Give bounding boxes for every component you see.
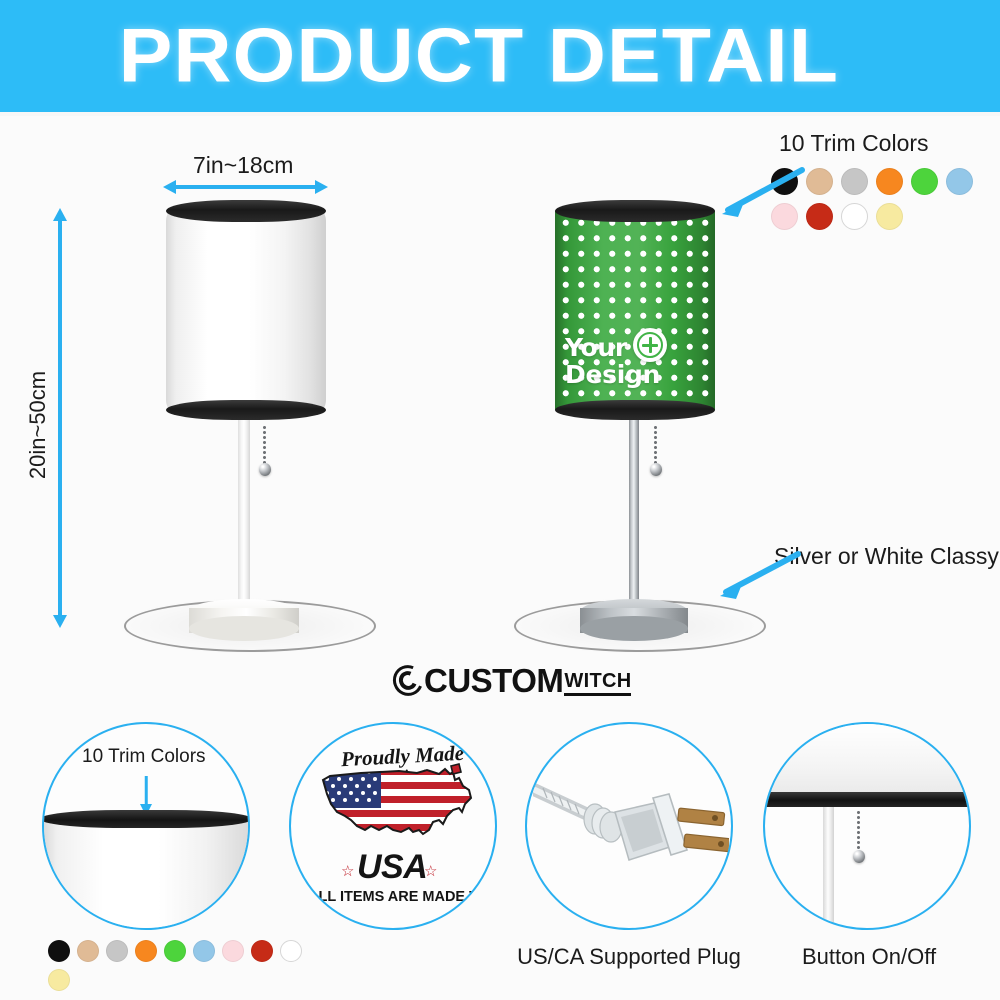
lamp-shade-trim-closeup [42, 810, 250, 930]
chain-ball [853, 850, 865, 863]
trim-swatch-gray[interactable] [841, 168, 868, 195]
trim-swatch-tan[interactable] [77, 940, 99, 962]
trim-swatch-yellow[interactable] [876, 203, 903, 230]
arrow-head-right [315, 180, 328, 194]
plus-icon [633, 328, 667, 362]
trim-swatch-red[interactable] [806, 203, 833, 230]
trim-swatch-orange[interactable] [135, 940, 157, 962]
lamp-pole [238, 420, 250, 610]
trim-swatch-green[interactable] [911, 168, 938, 195]
shade-trim-top [166, 200, 326, 222]
width-dimension-arrow [163, 180, 328, 194]
caption-switch: Button On/Off [740, 944, 998, 970]
shade-white-fabric [166, 211, 326, 410]
chain-beads [654, 425, 657, 465]
shade-trim-bottom [166, 400, 326, 420]
shade-trim [763, 792, 971, 807]
usa-flag-map-icon [313, 760, 481, 858]
chain-beads [857, 810, 860, 852]
arrow-shaft [58, 216, 62, 620]
height-dimension-label: 20in~50cm [25, 360, 51, 490]
lamp-pole [629, 420, 639, 610]
trim-swatch-black[interactable] [48, 940, 70, 962]
base-bottom [189, 616, 299, 641]
shade-surface [42, 820, 250, 930]
shade-surface [166, 211, 326, 410]
feature-circle-trim-colors: 10 Trim Colors [42, 722, 250, 930]
trim-swatch-light-blue[interactable] [946, 168, 973, 195]
chain-beads [263, 425, 266, 465]
shade-surface: Your Design [555, 211, 715, 410]
arrow-head-bottom [53, 615, 67, 628]
page-title: PRODUCT DETAIL [0, 13, 1000, 100]
trim-swatch-red[interactable] [251, 940, 273, 962]
brand-name-sub: WITCH [564, 671, 631, 691]
lamp-pole [823, 807, 834, 930]
brand-logo: CUSTOM WITCH [393, 665, 631, 696]
trim-swatch-tan[interactable] [806, 168, 833, 195]
shade-trim-top [555, 200, 715, 222]
header-banner: PRODUCT DETAIL [0, 0, 1000, 112]
header-divider [0, 112, 1000, 116]
caption-plug: US/CA Supported Plug [500, 944, 758, 970]
lamp-shade-white [166, 200, 326, 420]
chain-ball [650, 463, 662, 476]
trim-swatch-light-blue[interactable] [193, 940, 215, 962]
shade-trim-bottom [555, 400, 715, 420]
usa-star-left: ☆ [341, 862, 354, 880]
base-finish-label: Silver or White Classy [774, 543, 999, 570]
circle-c-logo-icon [393, 665, 423, 696]
product-detail-infographic: PRODUCT DETAIL 7in~18cm 20in~50cm [0, 0, 1000, 1000]
brand-name-main: CUSTOM [424, 665, 563, 696]
base-bottom [580, 616, 688, 641]
design-text-line2: Design [565, 361, 660, 388]
arrow-shaft [145, 776, 148, 805]
trim-colors-swatch-row-bottom[interactable] [48, 940, 308, 991]
trim-swatch-green[interactable] [164, 940, 186, 962]
arrow-shaft [171, 185, 320, 189]
lamp-base [189, 599, 299, 641]
trim-swatch-pink[interactable] [222, 940, 244, 962]
lamp-shade-custom-design: Your Design [555, 200, 715, 420]
feature-circle-plug: US/CA Supported Plug [525, 722, 733, 930]
brand-underline [564, 693, 631, 696]
chain-ball [259, 463, 271, 476]
trim-swatch-white[interactable] [841, 203, 868, 230]
trim-colors-top-label: 10 Trim Colors [779, 130, 929, 157]
power-plug-icon [533, 772, 729, 892]
shade-trim [42, 810, 250, 828]
shade-bottom-surface [763, 724, 971, 796]
brand-name-sub-wrap: WITCH [564, 671, 631, 696]
usa-badge-word: USA [357, 848, 427, 887]
trim-swatch-gray[interactable] [106, 940, 128, 962]
usa-badge-subtitle: ALL ITEMS ARE MADE TO ORDER! [308, 889, 497, 905]
feature-circle-made-in-usa: Proudly Made in the [289, 722, 497, 930]
trim-swatch-yellow[interactable] [48, 969, 70, 991]
base-finish-arrow [694, 548, 806, 604]
feature-circle-switch: Button On/Off [763, 722, 971, 930]
height-dimension-arrow [53, 208, 67, 628]
lamp-base [580, 599, 688, 641]
usa-star-right: ☆ [424, 862, 437, 880]
plus-icon-ring [637, 332, 663, 358]
trim-swatch-white[interactable] [280, 940, 302, 962]
trim-swatch-orange[interactable] [876, 168, 903, 195]
trim-colors-circle-label: 10 Trim Colors [82, 746, 206, 768]
width-dimension-label: 7in~18cm [193, 152, 293, 179]
